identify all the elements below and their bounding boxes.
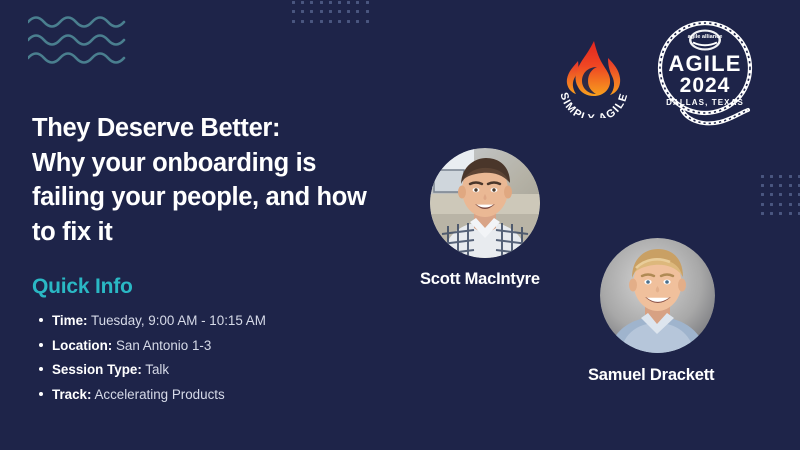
info-value: Talk: [145, 362, 169, 377]
grid-dot: [329, 20, 332, 23]
grid-dot: [779, 203, 782, 206]
title-line-4: to fix it: [32, 218, 112, 246]
grid-dot: [366, 10, 369, 13]
badge-line-year: 2024: [680, 74, 731, 97]
quick-info-heading: Quick Info: [32, 275, 133, 299]
grid-dot: [310, 20, 313, 23]
list-item: Session Type: Talk: [32, 360, 412, 379]
grid-dot: [301, 1, 304, 4]
grid-dot: [320, 1, 323, 4]
grid-dot: [338, 10, 341, 13]
agile-alliance-wordmark-1: agile alliance: [688, 34, 723, 40]
wavy-lines-decoration: [28, 16, 128, 72]
grid-dot: [789, 203, 792, 206]
speaker-card-scott-macintyre: Scott MacIntyre: [430, 148, 540, 258]
grid-dot: [310, 10, 313, 13]
grid-dot: [779, 212, 782, 215]
grid-dot: [761, 193, 764, 196]
info-value: San Antonio 1-3: [116, 338, 211, 353]
grid-dot: [366, 1, 369, 4]
info-value: Tuesday, 9:00 AM - 10:15 AM: [91, 313, 266, 328]
grid-dot: [779, 193, 782, 196]
grid-dot: [789, 193, 792, 196]
title-line-2: Why your onboarding is: [32, 149, 316, 177]
grid-dot: [789, 175, 792, 178]
speaker-name-scott-macintyre: Scott MacIntyre: [420, 270, 540, 289]
grid-dot: [770, 212, 773, 215]
grid-dot: [789, 212, 792, 215]
list-item: Time: Tuesday, 9:00 AM - 10:15 AM: [32, 311, 412, 330]
avatar: [430, 148, 540, 258]
grid-dot: [347, 10, 350, 13]
grid-dot: [320, 10, 323, 13]
grid-dot: [770, 184, 773, 187]
grid-dot: [761, 203, 764, 206]
info-label: Track:: [52, 387, 91, 402]
grid-dot: [770, 203, 773, 206]
grid-dot: [320, 20, 323, 23]
info-label: Time:: [52, 313, 87, 328]
grid-dot: [761, 175, 764, 178]
grid-dot: [779, 175, 782, 178]
avatar: [600, 238, 715, 353]
grid-dot: [292, 1, 295, 4]
grid-dot: [770, 193, 773, 196]
grid-dot: [347, 20, 350, 23]
title-line-3: failing your people, and how: [32, 183, 366, 211]
info-label: Location:: [52, 338, 112, 353]
agile-2024-badge-logo: agile alliance AGILE 2024 DALLAS, TEXAS: [644, 14, 766, 130]
grid-dot: [347, 1, 350, 4]
grid-dot: [761, 184, 764, 187]
grid-dot: [310, 1, 313, 4]
dot-grid-decoration-top: [292, 0, 372, 36]
grid-dot: [301, 10, 304, 13]
agile-alliance-mark-icon: agile alliance: [688, 30, 723, 51]
grid-dot: [292, 10, 295, 13]
speaker-name-samuel-drackett: Samuel Drackett: [588, 366, 714, 385]
grid-dot: [356, 1, 359, 4]
grid-dot: [338, 20, 341, 23]
grid-dot: [356, 10, 359, 13]
grid-dot: [761, 212, 764, 215]
page-title: They Deserve Better: Why your onboarding…: [32, 111, 422, 250]
badge-line-city: DALLAS, TEXAS: [666, 98, 744, 107]
session-slide: SIMPLY AGILE agile alliance: [0, 0, 800, 450]
flame-icon: [567, 41, 620, 96]
grid-dot: [329, 10, 332, 13]
grid-dot: [779, 184, 782, 187]
grid-dot: [329, 1, 332, 4]
grid-dot: [770, 175, 773, 178]
grid-dot: [301, 20, 304, 23]
grid-dot: [366, 20, 369, 23]
grid-dot: [292, 20, 295, 23]
speaker-card-samuel-drackett: Samuel Drackett: [600, 238, 715, 353]
badge-line-agile: AGILE: [668, 51, 741, 76]
quick-info-list: Time: Tuesday, 9:00 AM - 10:15 AM Locati…: [32, 311, 412, 409]
grid-dot: [356, 20, 359, 23]
info-label: Session Type:: [52, 362, 142, 377]
title-line-1: They Deserve Better:: [32, 114, 280, 142]
list-item: Track: Accelerating Products: [32, 385, 412, 404]
info-value: Accelerating Products: [94, 387, 224, 402]
dot-grid-decoration-right: [761, 175, 800, 219]
simply-agile-logo: SIMPLY AGILE: [553, 36, 635, 118]
grid-dot: [338, 1, 341, 4]
list-item: Location: San Antonio 1-3: [32, 336, 412, 355]
grid-dot: [789, 184, 792, 187]
